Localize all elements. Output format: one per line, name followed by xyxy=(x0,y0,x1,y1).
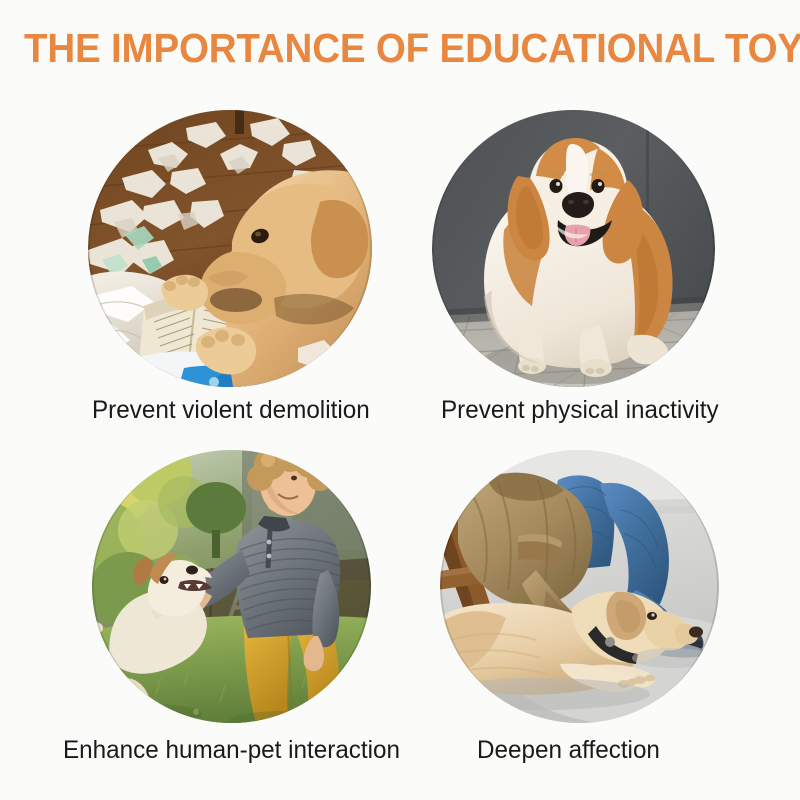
card-enhance-human-pet-interaction: Enhance human-pet interaction xyxy=(0,430,420,800)
photo-enhance-human-pet-interaction xyxy=(92,450,371,723)
card-caption: Enhance human-pet interaction xyxy=(63,736,400,764)
photo-prevent-physical-inactivity xyxy=(432,110,715,387)
card-deepen-affection: Deepen affection xyxy=(420,430,800,800)
poster-canvas: THE IMPORTANCE OF EDUCATIONAL TOYS xyxy=(0,0,800,800)
card-caption: Prevent violent demolition xyxy=(92,396,370,424)
card-prevent-physical-inactivity: Prevent physical inactivity xyxy=(420,0,800,430)
photo-deepen-affection xyxy=(440,450,719,723)
card-caption: Deepen affection xyxy=(477,736,660,764)
card-prevent-violent-demolition: Prevent violent demolition xyxy=(0,0,420,430)
card-caption: Prevent physical inactivity xyxy=(441,396,719,424)
photo-prevent-violent-demolition xyxy=(88,110,372,387)
